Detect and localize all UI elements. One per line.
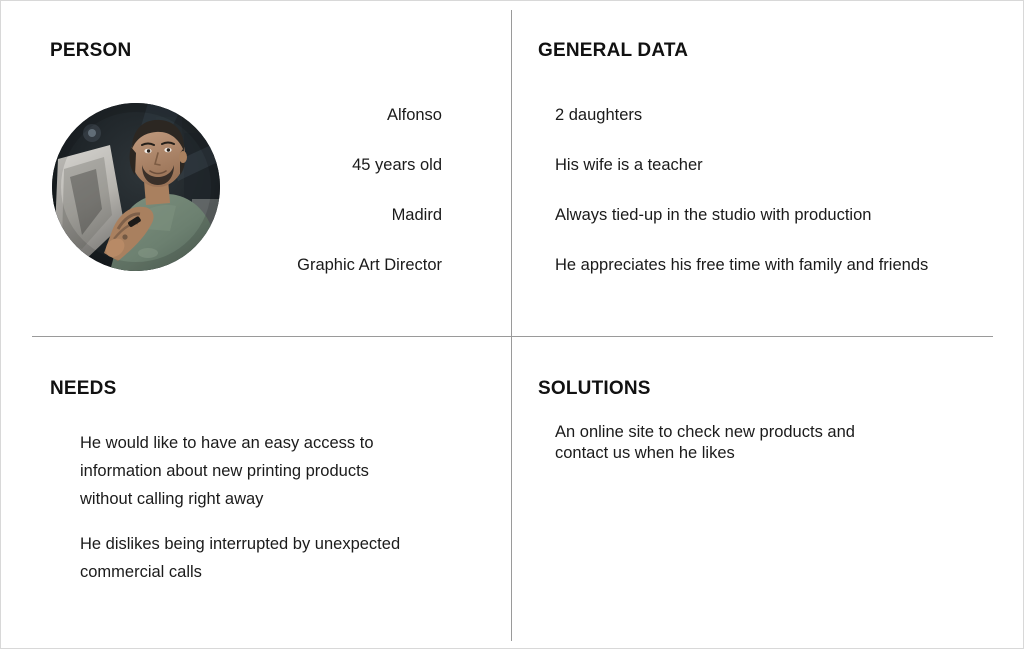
- person-heading: PERSON: [50, 40, 131, 62]
- general-data-fact: Always tied-up in the studio with produc…: [555, 205, 985, 225]
- horizontal-divider: [32, 336, 993, 337]
- general-data-list: 2 daughters His wife is a teacher Always…: [555, 105, 985, 275]
- solutions-item: An online site to check new products and…: [555, 422, 885, 464]
- solutions-heading: SOLUTIONS: [538, 378, 651, 400]
- needs-heading: NEEDS: [50, 378, 116, 400]
- person-fact: Graphic Art Director: [182, 255, 442, 275]
- needs-list: He would like to have an easy access to …: [80, 429, 410, 586]
- solutions-list: An online site to check new products and…: [555, 422, 885, 464]
- general-data-heading: GENERAL DATA: [538, 40, 688, 62]
- person-fact: 45 years old: [182, 155, 442, 175]
- person-facts-list: Alfonso 45 years old Madird Graphic Art …: [182, 105, 442, 275]
- general-data-fact: 2 daughters: [555, 105, 985, 125]
- vertical-divider: [511, 10, 512, 641]
- person-fact: Alfonso: [182, 105, 442, 125]
- needs-item: He would like to have an easy access to …: [80, 429, 410, 513]
- general-data-fact: He appreciates his free time with family…: [555, 255, 985, 275]
- general-data-fact: His wife is a teacher: [555, 155, 985, 175]
- needs-item: He dislikes being interrupted by unexpec…: [80, 530, 410, 586]
- person-fact: Madird: [182, 205, 442, 225]
- persona-canvas: PERSON: [0, 0, 1024, 649]
